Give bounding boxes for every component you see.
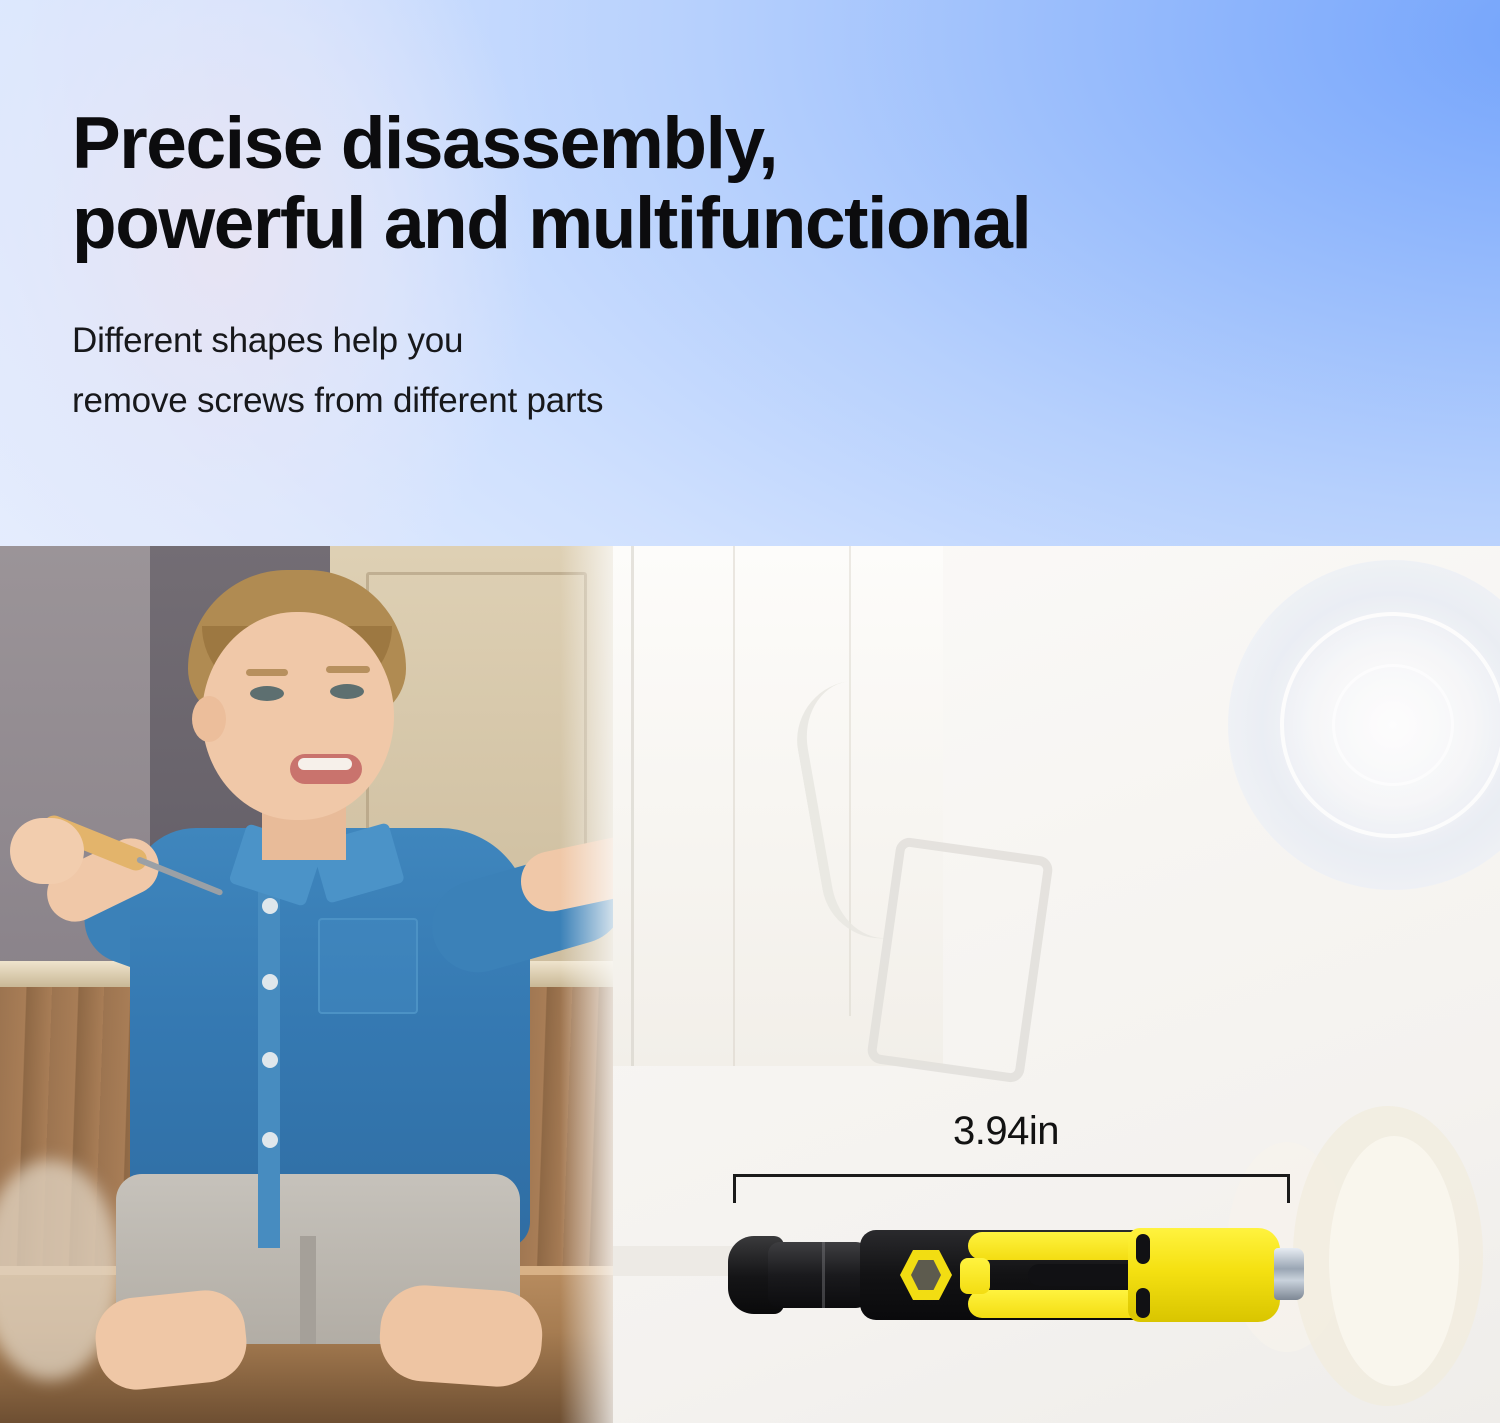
child-left-leg [92,1286,251,1393]
subheadline-line-1: Different shapes help you [72,311,1500,371]
header-text-block: Precise disassembly, powerful and multif… [0,0,1500,431]
screwdriver-handle [728,1218,1308,1330]
handle-grip-notch [1136,1288,1150,1318]
subheadline: Different shapes help you remove screws … [72,311,1500,431]
child-shirt-pocket [318,918,418,1014]
backdrop-oval-shape [1329,1136,1459,1386]
handle-grip-notch [1136,1234,1150,1264]
child-right-leg [377,1282,545,1389]
child-shirt-button [262,898,278,914]
child-eyebrow-left [246,669,288,676]
product-stage: 3.94in 3.34in UY [0,546,1500,1423]
product-feature-banner: Precise disassembly, powerful and multif… [0,0,1500,1423]
page-title: Precise disassembly, powerful and multif… [72,104,1372,265]
headline-line-2: powerful and multifunctional [72,184,1372,264]
dimension-bracket-handle [733,1174,1290,1177]
handle-swivel-collar [768,1242,868,1308]
handle-yellow-grip [1128,1228,1280,1322]
child-shirt-button [262,1052,278,1068]
child-eyebrow-right [326,666,370,673]
child-shorts-split [300,1236,316,1344]
backdrop-line [733,546,735,1066]
child-head [202,612,394,820]
backdrop-line [631,546,634,1066]
header-band: Precise disassembly, powerful and multif… [0,0,1500,546]
lifestyle-photo [0,546,613,1423]
handle-chuck-tip [1274,1248,1304,1300]
photo-child-figure [0,546,613,1423]
child-shirt-button [262,974,278,990]
backdrop-clock-face [1228,560,1500,890]
dimension-label-handle: 3.94in [953,1109,1059,1154]
child-ear [192,696,226,742]
child-left-hand [10,818,84,884]
child-shirt-button [262,1132,278,1148]
handle-yellow-connector [960,1258,990,1294]
photo-edge-fade [560,546,613,1423]
headline-line-1: Precise disassembly, [72,103,777,184]
backdrop-chair-shape [866,836,1054,1084]
child-eye-left [250,686,284,701]
child-mouth [290,754,362,784]
subheadline-line-2: remove screws from different parts [72,371,1500,431]
child-eye-right [330,684,364,699]
